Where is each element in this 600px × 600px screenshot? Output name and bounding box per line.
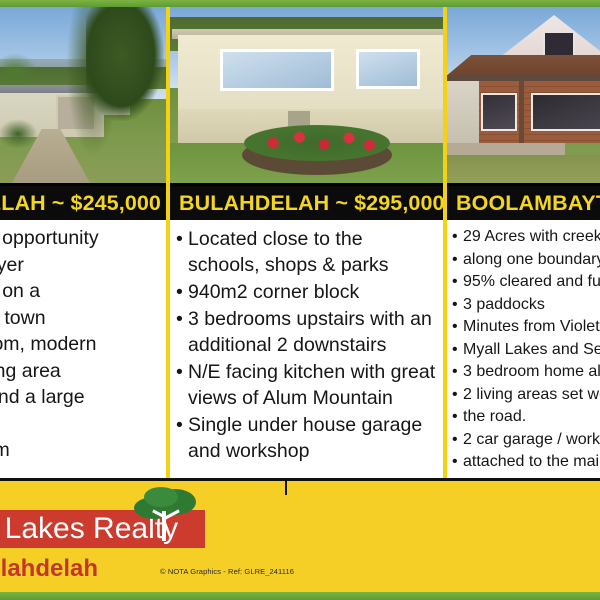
list-item: tment opportunity (0, 226, 166, 252)
copyright-symbol: © (160, 567, 166, 576)
photo-tiled-roof (447, 55, 600, 77)
photo-window-right (356, 49, 420, 89)
list-item: d dining area (0, 359, 166, 385)
list-item: 95% cleared and full (452, 271, 600, 293)
list-item: 3 bedrooms upstairs with an additional 2… (175, 306, 437, 358)
advertisement-page: ELAH ~ $245,000 tment opportunity ue buy… (0, 0, 600, 600)
list-item: home on a (0, 279, 166, 305)
listing-bullets-1: tment opportunity ue buyer home on a ock… (0, 226, 166, 464)
list-item-cont: attached to the main (452, 451, 600, 473)
property-photo-1 (0, 7, 166, 186)
footer-bar: t Lakes Realty ulahdelah PHONE: 4 67 Str… (0, 478, 600, 595)
listing-title-2: BULAHDELAH ~ $295,000 (170, 186, 443, 220)
list-item-cont: 2 living areas set we (452, 384, 600, 406)
list-item: port and a large (0, 385, 166, 411)
list-item: 2 car garage / works (452, 429, 600, 451)
list-item: ed (0, 412, 166, 438)
listing-title-3: BOOLAMBAYTE (447, 186, 600, 220)
listing-bullets-2: Located close to the schools, shops & pa… (175, 226, 437, 464)
tree-icon (128, 483, 200, 545)
list-item: 29 Acres with creek (452, 226, 600, 248)
tree-canopy-top (144, 487, 178, 507)
listing-body-3: 29 Acres with creek along one boundary 9… (447, 220, 600, 478)
listing-body-1: tment opportunity ue buyer home on a ock… (0, 220, 166, 478)
list-item: Minutes from Violet (452, 316, 600, 338)
listing-bullets-3: 29 Acres with creek along one boundary 9… (452, 226, 600, 473)
listing-title-1: ELAH ~ $245,000 (0, 186, 166, 220)
list-item: 940m2 corner block (175, 279, 437, 305)
list-item: 3 bedroom home all (452, 361, 600, 383)
list-item-cont: the road. (452, 406, 600, 428)
photo-glass-door-left (481, 93, 517, 131)
list-item-cont: 3 paddocks (452, 294, 600, 316)
listing-card-2[interactable]: BULAHDELAH ~ $295,000 Located close to t… (166, 7, 443, 478)
photo-tree-front (86, 7, 164, 121)
list-item: system (0, 438, 166, 464)
list-item: Located close to the schools, shops & pa… (175, 226, 437, 278)
photo-glass-doors (531, 93, 600, 131)
property-photo-2 (170, 7, 443, 186)
list-item: Single under house garage and workshop (175, 412, 437, 464)
photo-lawn (447, 155, 600, 183)
photo-post (519, 81, 524, 145)
top-green-strip (0, 0, 600, 7)
listing-card-3[interactable]: BOOLAMBAYTE 29 Acres with creek along on… (443, 7, 600, 478)
footer-divider (285, 481, 287, 495)
list-item: N/E facing kitchen with great views of A… (175, 359, 437, 411)
photo-rose-garden (244, 125, 390, 161)
listing-card-1[interactable]: ELAH ~ $245,000 tment opportunity ue buy… (0, 7, 166, 478)
list-item: ue buyer (0, 253, 166, 279)
photo-gable-window (543, 31, 575, 57)
list-item: ge room, modern (0, 332, 166, 358)
photo-window-left (220, 49, 334, 91)
listing-body-2: Located close to the schools, shops & pa… (170, 220, 443, 478)
photo-shrub (0, 119, 38, 149)
copyright-notice: © NOTA Graphics - Ref: GLRE_241116 (160, 567, 294, 576)
list-item: ock in town (0, 306, 166, 332)
property-photo-3 (447, 7, 600, 186)
copyright-text: NOTA Graphics - Ref: GLRE_241116 (168, 567, 294, 576)
listings-row: ELAH ~ $245,000 tment opportunity ue buy… (0, 7, 600, 478)
bottom-green-strip (0, 592, 600, 600)
list-item-cont: Myall Lakes and Sea (452, 339, 600, 361)
list-item-cont: along one boundary (452, 249, 600, 271)
photo-verandah (447, 81, 479, 143)
